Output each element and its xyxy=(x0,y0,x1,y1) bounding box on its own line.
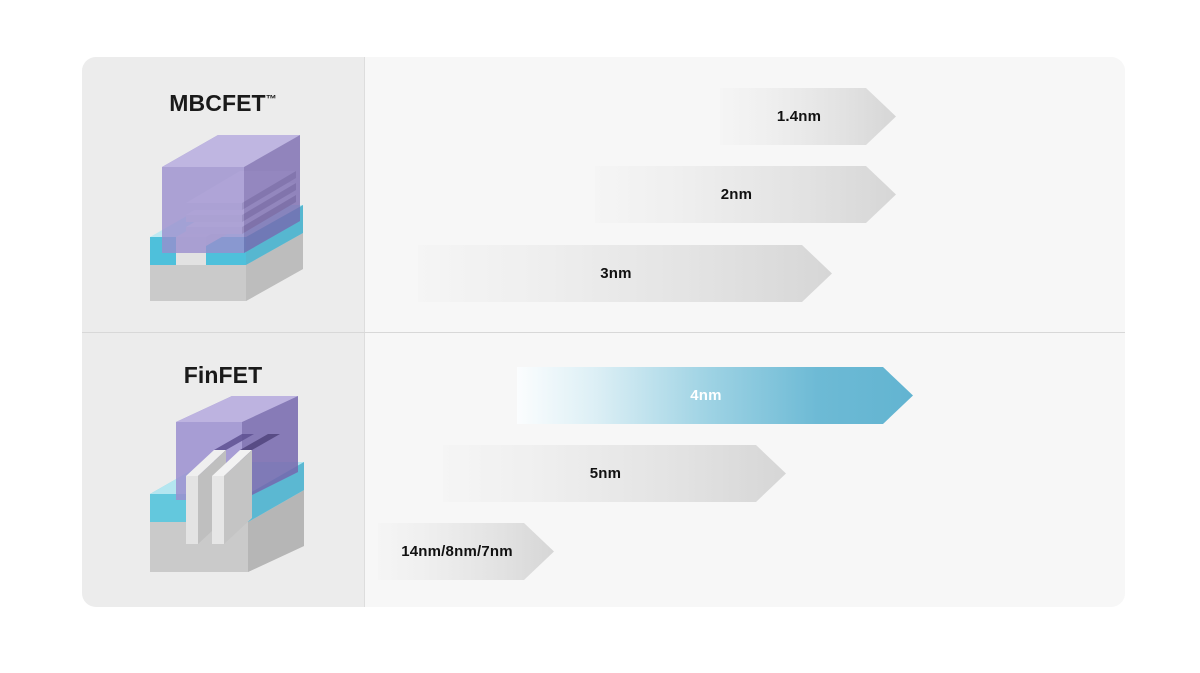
mbcfet-label-cell: MBCFET™ xyxy=(82,57,364,332)
finfet-title-text: FinFET xyxy=(184,362,263,388)
trademark-symbol: ™ xyxy=(266,93,277,105)
bar-14nm-8nm-7nm[interactable]: 14nm/8nm/7nm xyxy=(378,523,554,580)
bar-4nm-label: 4nm xyxy=(690,387,721,404)
bar-2nm[interactable]: 2nm xyxy=(595,166,896,223)
bar-5nm-label: 5nm xyxy=(590,465,621,482)
roadmap-page: MBCFET™ xyxy=(0,0,1200,673)
finfet-icon-wrap xyxy=(82,394,364,574)
finfet-title: FinFET xyxy=(82,362,364,389)
finfet-label-cell: FinFET xyxy=(82,332,364,607)
bar-1-4nm-label: 1.4nm xyxy=(777,108,821,125)
bar-3nm-label: 3nm xyxy=(600,265,631,282)
mbcfet-icon-wrap xyxy=(82,129,364,304)
bar-1-4nm[interactable]: 1.4nm xyxy=(720,88,896,145)
mbcfet-title: MBCFET™ xyxy=(82,90,364,117)
mbcfet-3d-transistor-icon xyxy=(128,129,318,304)
row-mbcfet: MBCFET™ xyxy=(82,57,1125,332)
finfet-3d-transistor-icon xyxy=(128,394,318,574)
bar-5nm[interactable]: 5nm xyxy=(443,445,786,502)
bar-14nm-8nm-7nm-label: 14nm/8nm/7nm xyxy=(401,543,513,560)
bar-2nm-label: 2nm xyxy=(721,186,752,203)
mbcfet-bars-cell: 1.4nm 2nm 3nm xyxy=(364,57,1125,332)
finfet-bars-cell: 4nm 5nm 14nm/8nm/7nm xyxy=(364,332,1125,607)
row-finfet: FinFET xyxy=(82,332,1125,607)
bar-3nm[interactable]: 3nm xyxy=(418,245,832,302)
bar-4nm[interactable]: 4nm xyxy=(517,367,913,424)
process-roadmap-card: MBCFET™ xyxy=(82,57,1125,607)
mbcfet-title-text: MBCFET xyxy=(169,90,265,116)
